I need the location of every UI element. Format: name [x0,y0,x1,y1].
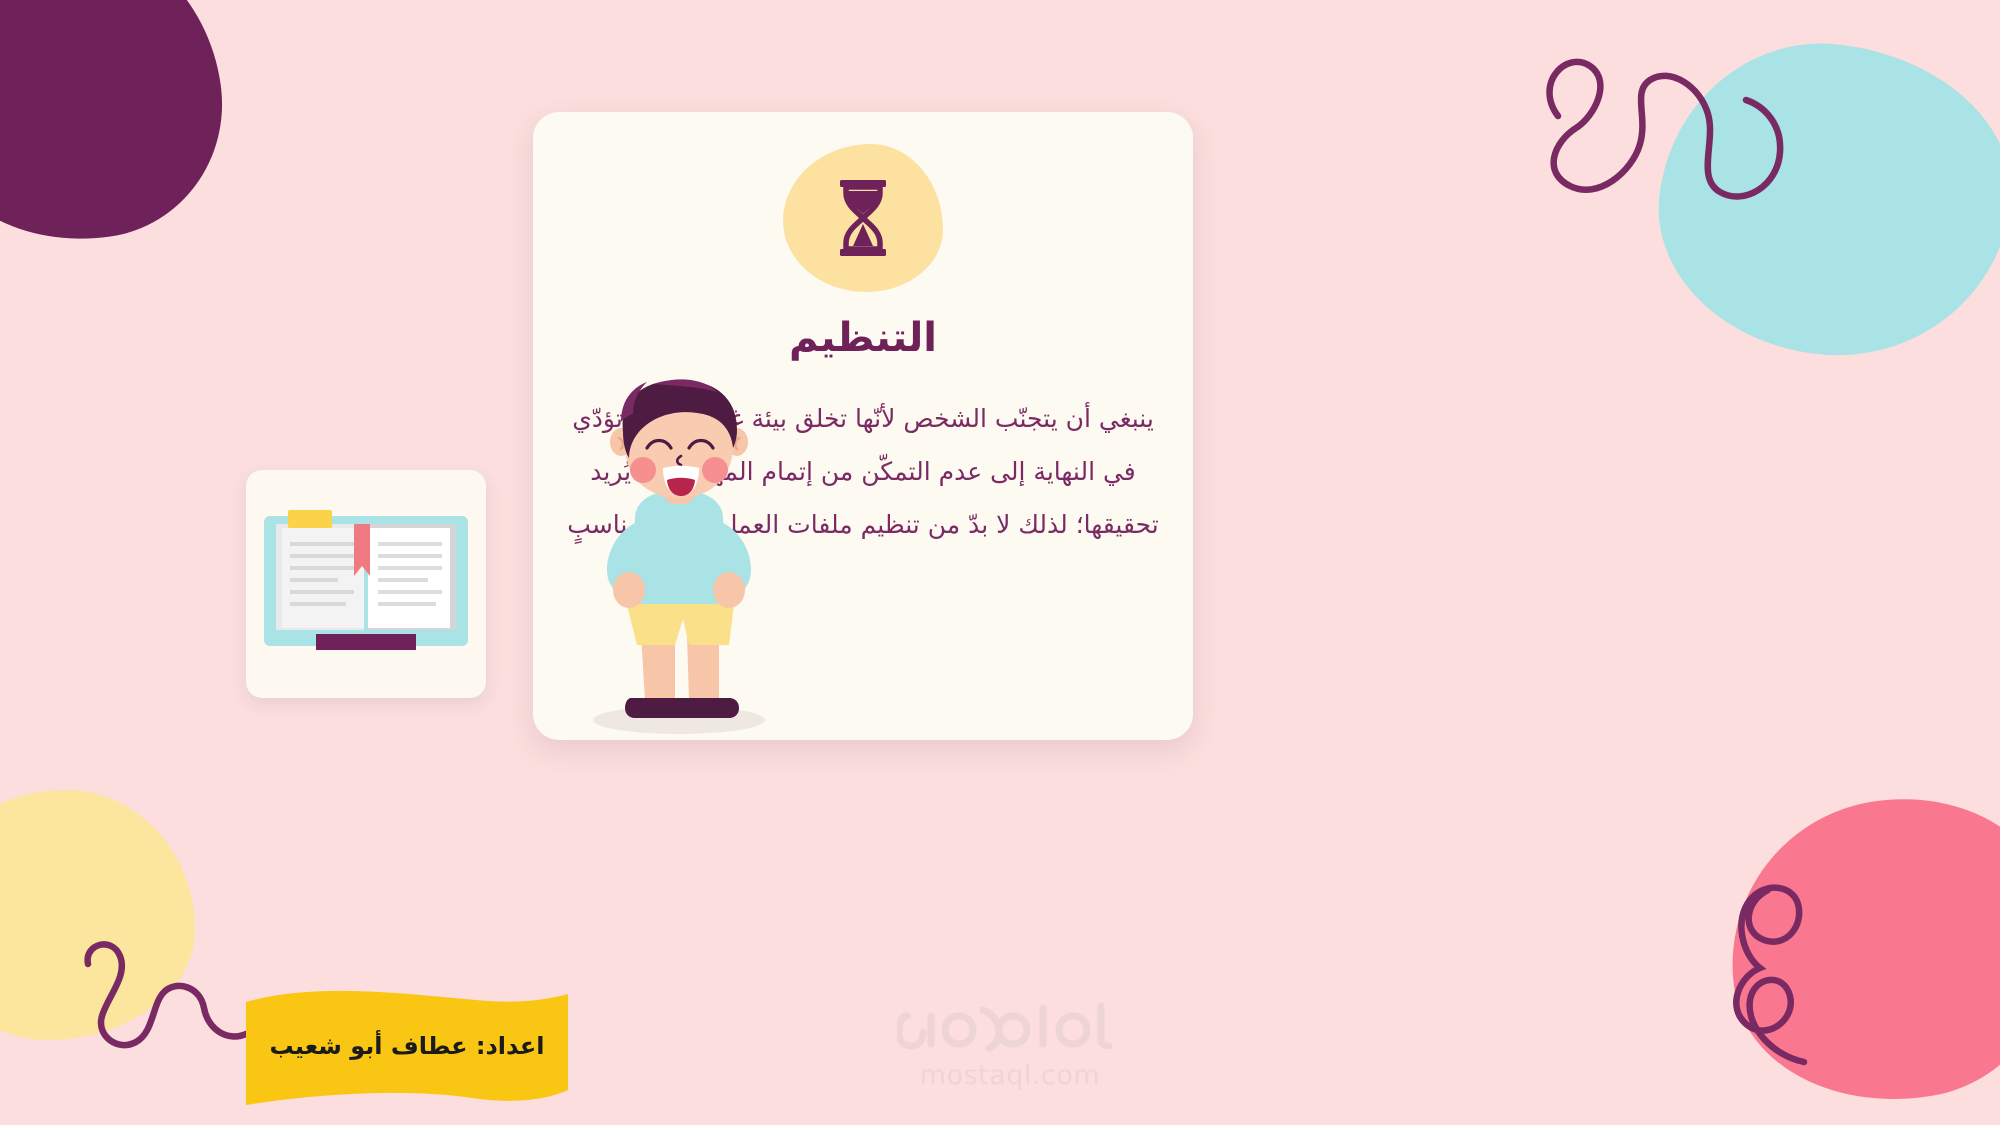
hourglass-icon [836,179,890,257]
author-banner: اعداد: عطاف أبو شعيب [246,990,568,1105]
purple-blob-top-left [0,0,239,259]
purple-squiggle-top-right [1540,40,1800,210]
page-title: التنظيم [533,315,1193,361]
open-book-icon [258,502,474,666]
book-thumbnail-card[interactable] [246,470,486,698]
mostaql-watermark: mostaql.com [890,1000,1130,1091]
mostaql-watermark-text: mostaql.com [890,1060,1130,1091]
boy-standing-illustration [563,376,793,740]
purple-squiggle-bottom-left [78,930,258,1060]
purple-squiggle-bottom-right [1720,880,1910,1080]
author-label: اعداد: عطاف أبو شعيب [246,990,568,1105]
hourglass-icon-blob [783,144,943,292]
content-card: التنظيم ينبغي أن يتجنّب الشخص لأنّها تخل… [533,112,1193,740]
slide-canvas: التنظيم ينبغي أن يتجنّب الشخص لأنّها تخل… [0,0,2000,1125]
mostaql-logo-icon [890,1000,1130,1056]
